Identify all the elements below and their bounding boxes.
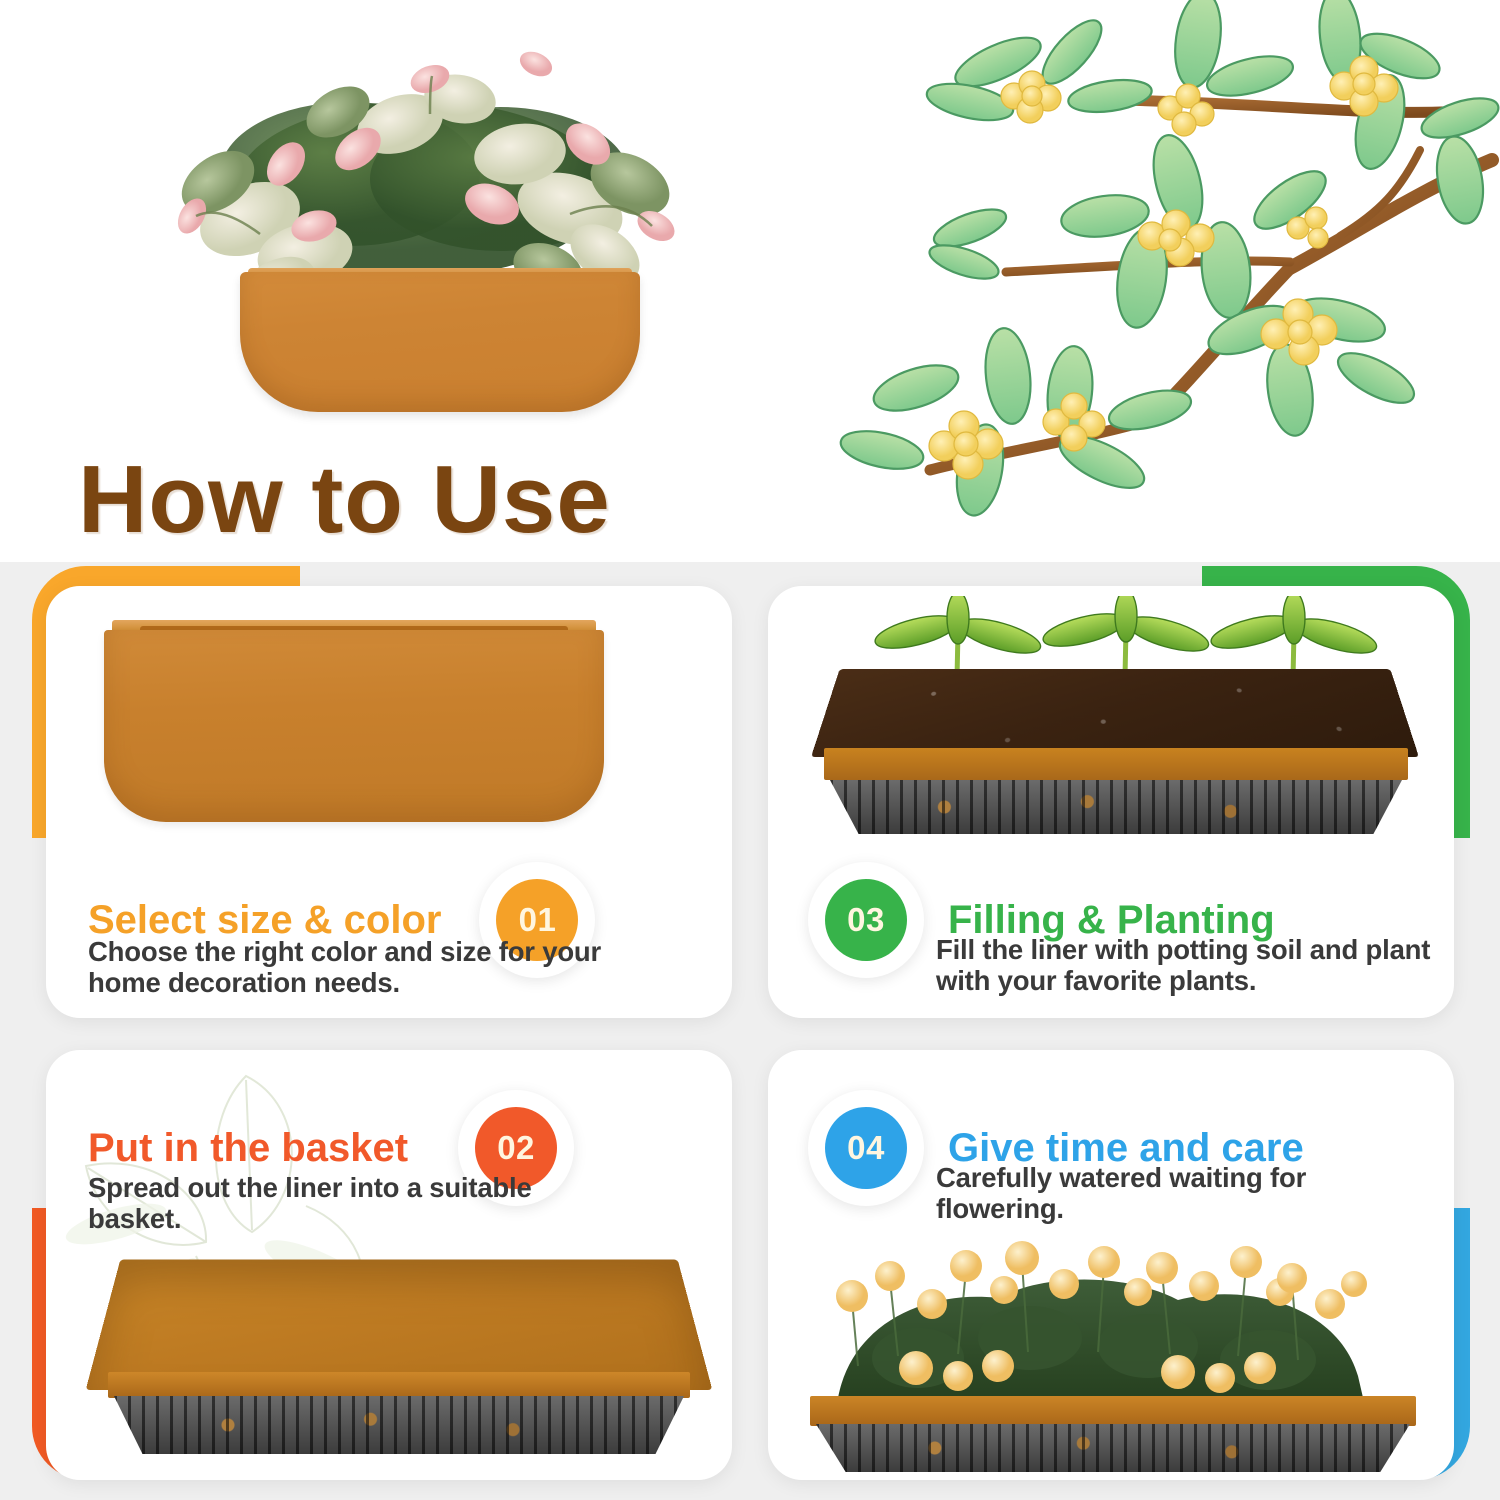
metal-basket-cage [114,1396,684,1454]
page-title: How to Use [78,452,611,548]
step-02-image [94,1246,704,1462]
hero-planter-photo [100,4,780,424]
step-card-03[interactable]: 03 Filling & Planting Fill the liner wit… [768,586,1454,1018]
liner-front-edge [824,748,1408,780]
step-03-image [788,596,1438,854]
liner-front-lip [108,1372,690,1398]
step-card-01[interactable]: Select size & color 01 Choose the right … [46,586,732,1018]
branch-icon [820,0,1500,520]
liner-open-top [86,1260,713,1390]
liner-front-lip [810,1396,1416,1426]
liner-body [104,630,604,822]
planter-body [240,272,640,412]
metal-basket-cage [816,1424,1410,1472]
status-badge: 04 [825,1107,907,1189]
soil-surface [811,669,1419,757]
step-02-title: Put in the basket [88,1128,408,1168]
metal-basket-cage [830,780,1402,834]
step-01-title: Select size & color [88,900,441,940]
step-01-description: Choose the right color and size for your… [88,936,608,999]
osmanthus-branch-illustration [820,0,1500,520]
step-03-description: Fill the liner with potting soil and pla… [936,934,1448,997]
step-card-04[interactable]: 04 Give time and care Carefully watered … [768,1050,1454,1480]
step-03-badge-halo: 03 [808,862,924,978]
step-04-description: Carefully watered waiting for flowering. [936,1162,1436,1225]
step-card-02[interactable]: Put in the basket 02 Spread out the line… [46,1050,732,1480]
step-04-image [798,1226,1428,1472]
hero-section: How to Use [0,0,1500,562]
step-01-image [104,620,604,828]
status-badge: 03 [825,879,907,961]
step-04-badge-halo: 04 [808,1090,924,1206]
how-to-use-infographic: How to Use Select size & color 01 Choose… [0,0,1500,1500]
step-02-description: Spread out the liner into a suitable bas… [88,1172,588,1235]
